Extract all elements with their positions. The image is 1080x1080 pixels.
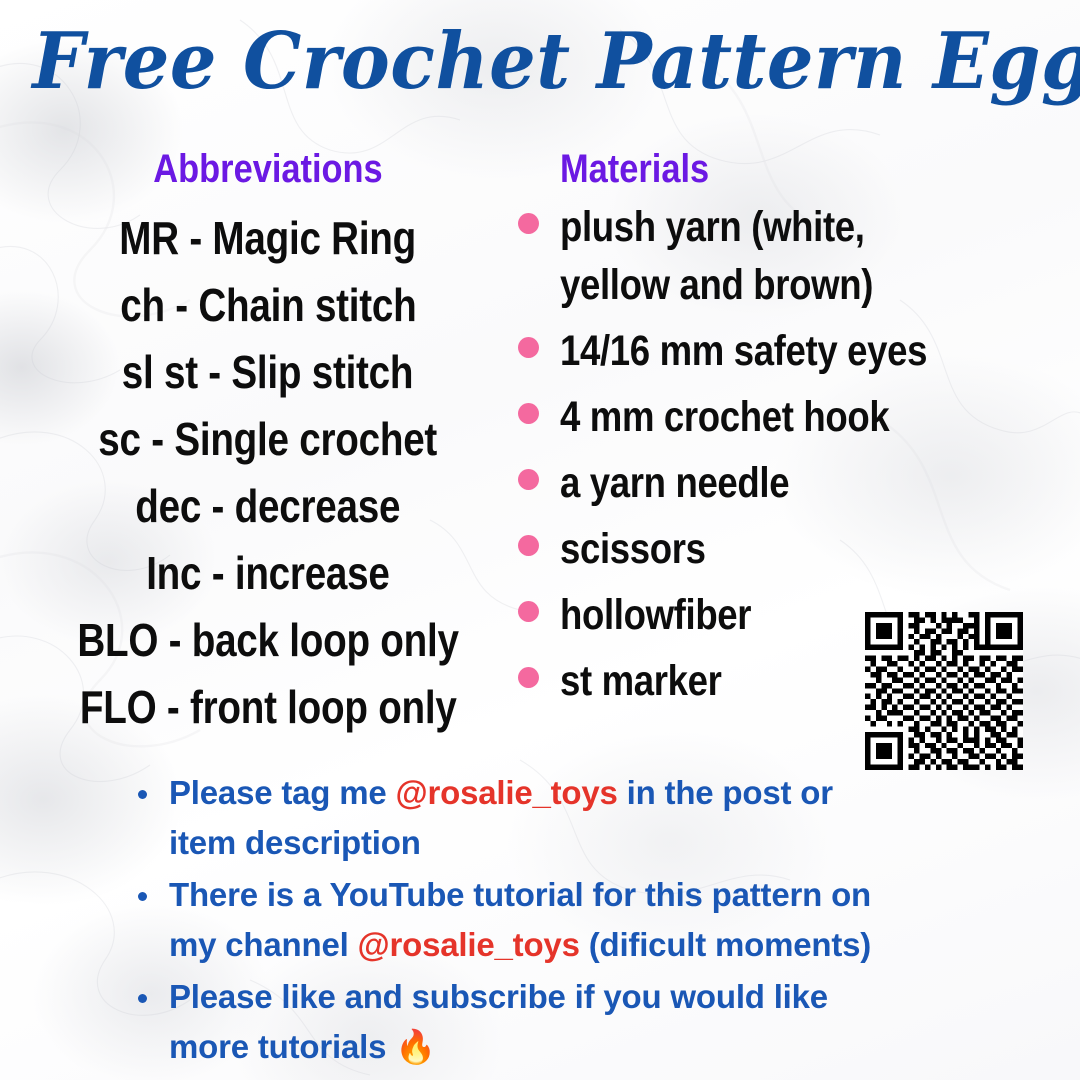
abbreviation-item: BLO - back loop only xyxy=(0,607,536,674)
note-run-blue: Please tag me xyxy=(169,774,396,811)
material-label-text: plush yarn (white, yellow and brown) xyxy=(560,198,983,314)
abbreviations-heading: Abbreviations xyxy=(38,147,499,191)
note-text: Please like and subscribe if you would l… xyxy=(169,972,908,1072)
note-run-red: @rosalie_toys xyxy=(358,926,580,963)
material-item: 14/16 mm safety eyes xyxy=(518,322,1058,380)
abbreviation-label: sl st - Slip stitch xyxy=(122,339,414,406)
note-run-blue: (dificult moments) xyxy=(580,926,871,963)
bullet-dot-icon xyxy=(518,213,539,234)
note-run-red: @rosalie_toys xyxy=(396,774,618,811)
bullet-dot-icon xyxy=(518,469,539,490)
bullet-dot-icon xyxy=(518,535,539,556)
abbreviation-label: sc - Single crochet xyxy=(99,406,438,473)
abbreviations-list: MR - Magic Ring ch - Chain stitch sl st … xyxy=(0,205,536,741)
pattern-infographic: Free Crochet Pattern Egg Abbreviations M… xyxy=(0,0,1080,1080)
abbreviation-item: ch - Chain stitch xyxy=(0,272,536,339)
abbreviation-item: dec - decrease xyxy=(0,473,536,540)
bullet-dot-icon xyxy=(518,601,539,622)
note-run-blue: Please like and subscribe if you would l… xyxy=(169,978,828,1065)
abbreviation-item: MR - Magic Ring xyxy=(0,205,536,272)
abbreviation-label: Inc - increase xyxy=(146,540,389,607)
notes-list: Please tag me @rosalie_toys in the post … xyxy=(138,768,908,1074)
material-label-text: hollowfiber xyxy=(560,586,751,644)
note-run-emoji: 🔥 xyxy=(395,1027,436,1066)
abbreviation-item: sl st - Slip stitch xyxy=(0,339,536,406)
note-item: There is a YouTube tutorial for this pat… xyxy=(138,870,908,970)
material-label-text: 4 mm crochet hook xyxy=(560,388,889,446)
material-item: a yarn needle xyxy=(518,454,1058,512)
bullet-dot-icon xyxy=(138,790,147,799)
material-label-text: a yarn needle xyxy=(560,454,789,512)
bullet-dot-icon xyxy=(518,337,539,358)
material-label-text: st marker xyxy=(560,652,722,710)
material-label-text: scissors xyxy=(560,520,706,578)
material-label: scissors xyxy=(560,520,1058,578)
bullet-dot-icon xyxy=(518,667,539,688)
note-item: Please tag me @rosalie_toys in the post … xyxy=(138,768,908,868)
note-text: Please tag me @rosalie_toys in the post … xyxy=(169,768,908,868)
material-item: 4 mm crochet hook xyxy=(518,388,1058,446)
material-label: plush yarn (white, yellow and brown) xyxy=(560,198,1058,314)
page-title: Free Crochet Pattern Egg xyxy=(32,16,1047,108)
note-text: There is a YouTube tutorial for this pat… xyxy=(169,870,908,970)
material-label-text: 14/16 mm safety eyes xyxy=(560,322,927,380)
abbreviation-item: Inc - increase xyxy=(0,540,536,607)
bullet-dot-icon xyxy=(138,994,147,1003)
abbreviation-label: dec - decrease xyxy=(136,473,401,540)
material-item: plush yarn (white, yellow and brown) xyxy=(518,198,1058,314)
materials-heading: Materials xyxy=(560,147,709,191)
note-item: Please like and subscribe if you would l… xyxy=(138,972,908,1072)
bullet-dot-icon xyxy=(138,892,147,901)
material-label: 14/16 mm safety eyes xyxy=(560,322,1058,380)
abbreviation-item: sc - Single crochet xyxy=(0,406,536,473)
abbreviation-label: MR - Magic Ring xyxy=(120,205,417,272)
bullet-dot-icon xyxy=(518,403,539,424)
material-label: a yarn needle xyxy=(560,454,1058,512)
material-label: 4 mm crochet hook xyxy=(560,388,1058,446)
material-item: scissors xyxy=(518,520,1058,578)
abbreviation-item: FLO - front loop only xyxy=(0,674,536,741)
abbreviation-label: ch - Chain stitch xyxy=(120,272,416,339)
abbreviation-label: FLO - front loop only xyxy=(80,674,457,741)
abbreviation-label: BLO - back loop only xyxy=(77,607,458,674)
qr-code[interactable] xyxy=(865,612,1023,770)
